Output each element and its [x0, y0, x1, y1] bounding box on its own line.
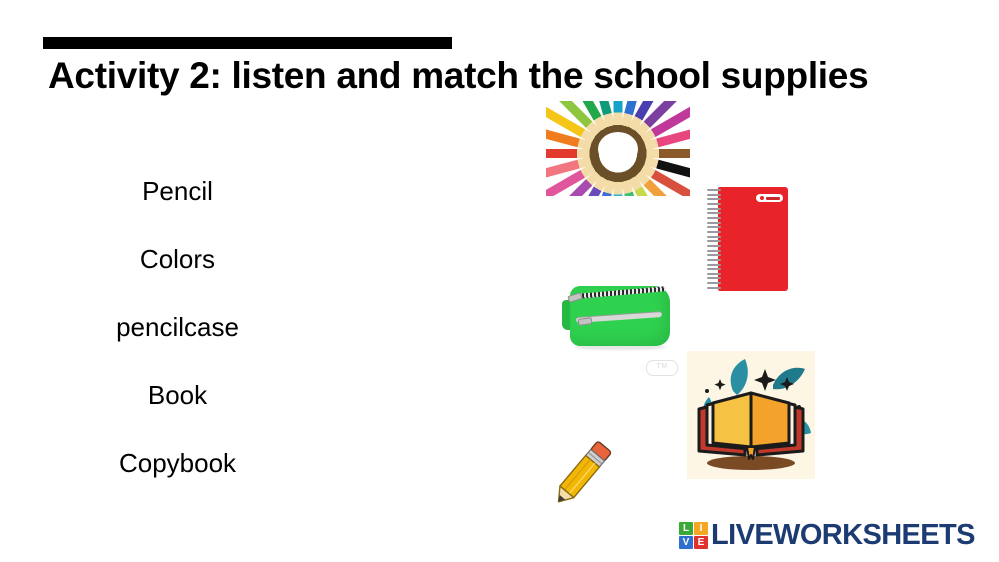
spiral-ring: [707, 203, 721, 205]
liveworksheets-logo[interactable]: L I V E LIVEWORKSHEETS: [679, 521, 975, 550]
page-title: Activity 2: listen and match the school …: [48, 50, 878, 102]
spiral-ring: [707, 208, 721, 210]
logo-letter-tiles: L I V E: [679, 522, 708, 549]
word-item-colors[interactable]: Colors: [60, 246, 295, 272]
spiral-ring: [707, 259, 721, 261]
pencil-svg: [543, 434, 619, 516]
notebook-badge-bar: [766, 197, 780, 200]
spiral-ring: [707, 212, 721, 214]
spiral-ring: [707, 282, 721, 284]
worksheet-page: Activity 2: listen and match the school …: [0, 0, 999, 562]
spiral-ring: [707, 245, 721, 247]
word-item-copybook[interactable]: Copybook: [60, 450, 295, 476]
spiral-ring: [707, 240, 721, 242]
colored-pencils-photo[interactable]: [546, 101, 690, 196]
spiral-ring: [707, 277, 721, 279]
word-item-pencilcase[interactable]: pencilcase: [60, 314, 295, 340]
green-pencil-case-photo[interactable]: [560, 278, 680, 364]
spiral-ring: [707, 236, 721, 238]
logo-tile-e: E: [694, 536, 708, 549]
spiral-ring: [707, 287, 721, 289]
notebook-brand-badge: [756, 194, 783, 202]
logo-tile-v: V: [679, 536, 693, 549]
yellow-pencil-icon[interactable]: [543, 434, 619, 516]
notebook-spiral-binding: [706, 189, 721, 289]
notebook-badge-dot: [760, 196, 764, 200]
word-list: Pencil Colors pencilcase Book Copybook: [60, 178, 295, 476]
spiral-ring: [707, 222, 721, 224]
open-book-illustration[interactable]: [687, 351, 815, 479]
word-item-pencil[interactable]: Pencil: [60, 178, 295, 204]
spiral-ring: [707, 189, 721, 191]
logo-wordmark: LIVEWORKSHEETS: [711, 521, 975, 550]
spiral-ring: [707, 231, 721, 233]
notebook-cover: [718, 187, 788, 291]
spiral-ring: [707, 250, 721, 252]
spiral-ring: [707, 268, 721, 270]
title-underline-bar: [43, 37, 452, 49]
red-spiral-notebook-photo[interactable]: [704, 185, 790, 293]
spiral-ring: [707, 198, 721, 200]
spiral-ring: [707, 273, 721, 275]
open-book-svg: [687, 351, 815, 479]
pencils-center-gap: [598, 132, 638, 166]
spiral-ring: [707, 217, 721, 219]
spiral-ring: [707, 226, 721, 228]
logo-tile-i: I: [694, 522, 708, 535]
spiral-ring: [707, 194, 721, 196]
word-item-book[interactable]: Book: [60, 382, 295, 408]
spiral-ring: [707, 254, 721, 256]
spiral-ring: [707, 264, 721, 266]
logo-tile-l: L: [679, 522, 693, 535]
faint-watermark: TM: [646, 360, 678, 376]
